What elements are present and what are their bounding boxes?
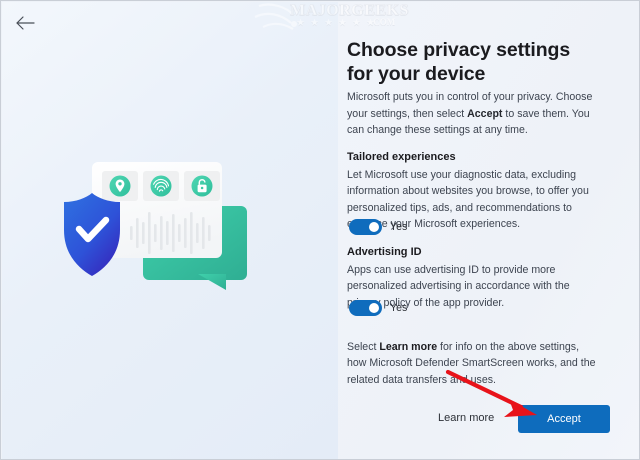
padlock-icon: [192, 176, 213, 197]
toggle-state-label: Yes: [390, 221, 407, 233]
learn-more-link[interactable]: Learn more: [438, 412, 494, 424]
footnote-learn-more-emphasis: Learn more: [379, 341, 437, 353]
toggle-tailored-experiences[interactable]: Yes: [349, 219, 407, 235]
footnote-text-before: Select: [347, 341, 379, 353]
toggle-knob: [369, 303, 379, 313]
toggle-knob: [369, 222, 379, 232]
illustration-pane: [2, 2, 338, 460]
toggle-track[interactable]: [349, 300, 382, 316]
accept-button[interactable]: Accept: [518, 405, 610, 433]
toggle-track[interactable]: [349, 219, 382, 235]
privacy-shield-illustration: [2, 2, 338, 460]
intro-accept-emphasis: Accept: [467, 108, 502, 120]
setting-title-tailored-experiences: Tailored experiences: [347, 151, 597, 163]
fingerprint-icon: [151, 176, 172, 197]
setup-privacy-screen: MAJORGEEKS ★ ★ ★ ★ ★ ★ .COM Choose priva…: [0, 0, 640, 460]
back-button[interactable]: [11, 9, 41, 37]
toggle-advertising-id[interactable]: Yes: [349, 300, 407, 316]
intro-paragraph: Microsoft puts you in control of your pr…: [347, 89, 597, 139]
location-pin-icon: [110, 176, 131, 197]
footnote-paragraph: Select Learn more for info on the above …: [347, 339, 601, 388]
toggle-state-label: Yes: [390, 302, 407, 314]
back-arrow-icon: [11, 9, 41, 37]
shield-check-icon: [64, 193, 120, 276]
setting-title-advertising-id: Advertising ID: [347, 246, 597, 258]
page-title: Choose privacy settings for your device: [347, 39, 599, 87]
